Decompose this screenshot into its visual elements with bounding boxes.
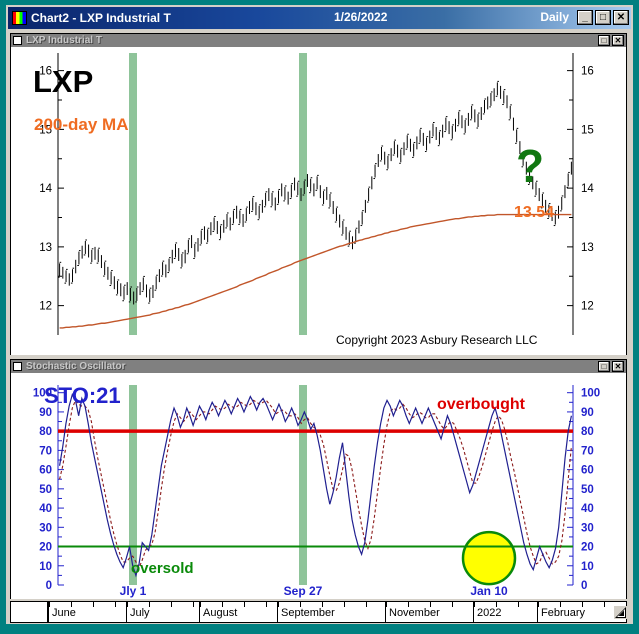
sto-ytick-label: 40 — [581, 503, 594, 515]
sto-ytick-label: 20 — [581, 542, 594, 554]
signal-highlight-circle — [463, 532, 515, 584]
x-axis-tick — [193, 602, 194, 607]
x-axis-tick — [115, 602, 116, 607]
close-button[interactable]: ✕ — [613, 10, 629, 25]
symbol-label: LXP — [33, 64, 93, 99]
price-pane-title: LXP Industrial T — [26, 35, 102, 46]
desktop-background: Chart2 - LXP Industrial T 1/26/2022 Dail… — [0, 0, 639, 634]
stochastic-pane: Stochastic Oscillator □ ✕ 00101020203030… — [10, 359, 627, 599]
window-title: Chart2 - LXP Industrial T — [31, 11, 171, 25]
x-axis-tick — [604, 602, 605, 607]
x-axis-tick — [344, 602, 345, 607]
chart-icon — [12, 11, 27, 25]
x-axis-tick — [278, 602, 279, 607]
sto-ytick-label: 0 — [581, 580, 587, 592]
window-date: 1/26/2022 — [334, 10, 387, 24]
sto-ytick-label: 30 — [39, 522, 52, 534]
pane-checkbox-icon[interactable] — [13, 36, 22, 45]
price-chart-pane: LXP Industrial T □ ✕ 1212131314141515161… — [10, 33, 627, 355]
x-axis-month-separator — [537, 602, 538, 622]
stochastic-chart-svg: 0010102020303040405050606070708080909010… — [11, 373, 626, 599]
x-axis-tick — [452, 602, 453, 607]
window-title-bar[interactable]: Chart2 - LXP Industrial T 1/26/2022 Dail… — [8, 7, 631, 29]
sto-ytick-label: 50 — [39, 484, 52, 496]
x-axis-month-separator — [126, 602, 127, 622]
x-axis-tick — [127, 602, 128, 607]
price-plot-area: 12121313141415151616LXP200-day MA?13.54C… — [11, 47, 626, 355]
x-axis-tick — [171, 602, 172, 607]
minimize-button[interactable]: _ — [577, 10, 593, 25]
price-ytick-label: 12 — [39, 301, 52, 313]
copyright-label: Copyright 2023 Asbury Research LLC — [336, 333, 538, 347]
sto-ytick-label: 10 — [39, 561, 52, 573]
x-axis-month-label: June — [52, 607, 76, 619]
question-mark-annotation: ? — [516, 140, 544, 192]
sto-ytick-label: 20 — [39, 542, 52, 554]
price-ytick-label: 16 — [581, 66, 594, 78]
sto-ytick-label: 80 — [39, 426, 52, 438]
x-axis-tick — [474, 602, 475, 607]
price-pane-title-bar[interactable]: LXP Industrial T □ ✕ — [11, 34, 626, 47]
x-axis-month-label: 2022 — [477, 607, 501, 619]
price-ytick-label: 14 — [39, 183, 52, 195]
sto-ytick-label: 10 — [581, 561, 594, 573]
x-axis-tick — [93, 602, 94, 607]
sto-plot-area: 0010102020303040405050606070708080909010… — [11, 373, 626, 599]
last-price-label: 13.54 — [514, 204, 554, 221]
sto-ytick-label: 70 — [581, 445, 594, 457]
x-axis-month-separator — [277, 602, 278, 622]
x-axis-month-label: February — [541, 607, 585, 619]
window-periodicity: Daily — [540, 10, 569, 24]
x-axis-tick — [244, 602, 245, 607]
price-ytick-label: 12 — [581, 301, 594, 313]
ma-legend-label: 200-day MA — [34, 115, 128, 134]
price-ytick-label: 13 — [581, 242, 594, 254]
sto-ytick-label: 60 — [581, 465, 594, 477]
x-axis-start-separator — [47, 602, 48, 622]
x-axis-tick — [366, 602, 367, 607]
price-ytick-label: 15 — [581, 124, 594, 136]
price-ytick-label: 13 — [39, 242, 52, 254]
price-pane-close-button[interactable]: ✕ — [612, 35, 624, 46]
sto-pane-restore-button[interactable]: □ — [598, 361, 610, 372]
sto-indicator-label: STO:21 — [44, 383, 121, 408]
x-axis-tick — [538, 602, 539, 607]
sto-ytick-label: 30 — [581, 522, 594, 534]
sto-ytick-label: 70 — [39, 445, 52, 457]
x-axis-month-separator — [473, 602, 474, 622]
price-pane-controls: □ ✕ — [598, 35, 624, 46]
oversold-label: oversold — [131, 560, 194, 577]
price-pane-restore-button[interactable]: □ — [598, 35, 610, 46]
sto-ytick-label: 80 — [581, 426, 594, 438]
x-axis-month-separator — [385, 602, 386, 622]
x-axis-month-separator — [199, 602, 200, 622]
highlight-band-2 — [299, 53, 307, 335]
x-axis-strip: JuneJulyAugustSeptemberNovember2022Febru… — [10, 601, 627, 623]
sto-ytick-label: 60 — [39, 465, 52, 477]
x-axis-month-label: August — [203, 607, 237, 619]
window-controls: _ □ ✕ — [577, 10, 629, 25]
x-axis-month-label: September — [281, 607, 335, 619]
x-axis-tick — [49, 602, 50, 607]
application-window: Chart2 - LXP Industrial T 1/26/2022 Dail… — [6, 5, 633, 624]
maximize-button[interactable]: □ — [595, 10, 611, 25]
x-axis-month-label: November — [389, 607, 440, 619]
x-axis-month-separator — [48, 602, 49, 622]
sto-ytick-label: 0 — [46, 580, 52, 592]
signal-date-label-3: Jan 10 — [470, 584, 508, 598]
client-area: LXP Industrial T □ ✕ 1212131314141515161… — [10, 31, 629, 621]
sto-pane-close-button[interactable]: ✕ — [612, 361, 624, 372]
signal-date-label-1: Jly 1 — [120, 584, 147, 598]
sto-pane-title-bar[interactable]: Stochastic Oscillator □ ✕ — [11, 360, 626, 373]
price-chart-svg: 12121313141415151616LXP200-day MA?13.54C… — [11, 47, 626, 355]
x-axis-tick — [266, 602, 267, 607]
sto-ytick-label: 100 — [581, 388, 600, 400]
sto-ytick-label: 90 — [39, 407, 52, 419]
overbought-label: overbought — [437, 396, 526, 413]
x-axis-tick — [200, 602, 201, 607]
x-axis-month-label: July — [130, 607, 150, 619]
sto-pane-checkbox-icon[interactable] — [13, 362, 22, 371]
sto-pane-title: Stochastic Oscillator — [26, 361, 125, 372]
sto-highlight-band-1 — [129, 385, 137, 585]
sto-ytick-label: 40 — [39, 503, 52, 515]
sto-pane-controls: □ ✕ — [598, 361, 624, 372]
signal-date-label-2: Sep 27 — [284, 584, 323, 598]
x-axis-tick — [518, 602, 519, 607]
x-axis-tick — [386, 602, 387, 607]
resize-grip[interactable] — [614, 606, 627, 619]
price-ytick-label: 14 — [581, 183, 594, 195]
sto-ytick-label: 50 — [581, 484, 594, 496]
sto-ytick-label: 90 — [581, 407, 594, 419]
